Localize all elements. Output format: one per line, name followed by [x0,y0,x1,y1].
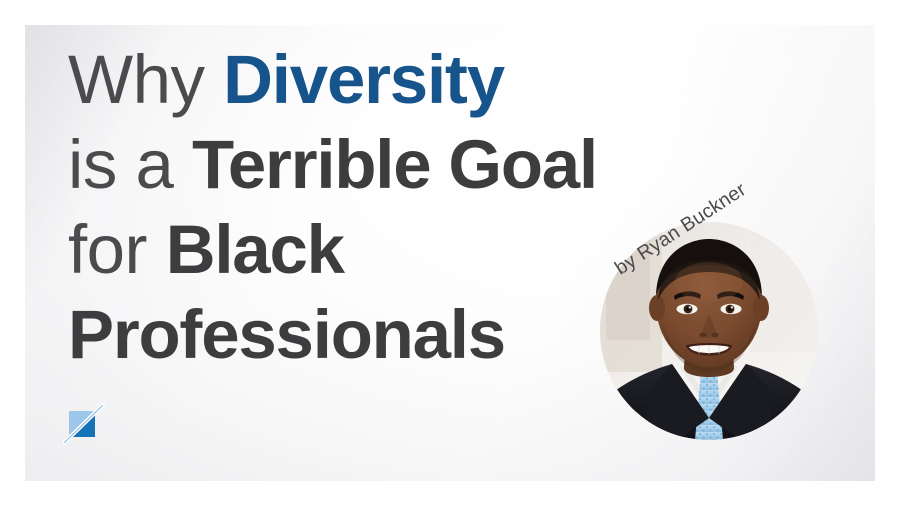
headline-line-3: for Black [68,215,688,298]
headline-line-3-strong: Black [166,211,344,288]
brand-logo-icon [63,403,105,445]
headline-line-4: Professionals [68,300,688,383]
slide-canvas: Why Diversity is a Terrible Goal for Bla… [0,0,900,506]
headline-line-4-strong: Professionals [68,296,505,373]
headline-line-1-accent: Diversity [223,41,504,118]
headline-line-2-light: is a [68,126,192,203]
content-area: Why Diversity is a Terrible Goal for Bla… [25,25,875,481]
headline-line-2: is a Terrible Goal [68,130,688,213]
headline-line-3-light: for [68,211,166,288]
page-title: Why Diversity is a Terrible Goal for Bla… [68,45,688,383]
headline-line-2-strong: Terrible Goal [192,126,597,203]
headline-line-1-light: Why [68,41,223,118]
headline-line-1: Why Diversity [68,45,688,128]
